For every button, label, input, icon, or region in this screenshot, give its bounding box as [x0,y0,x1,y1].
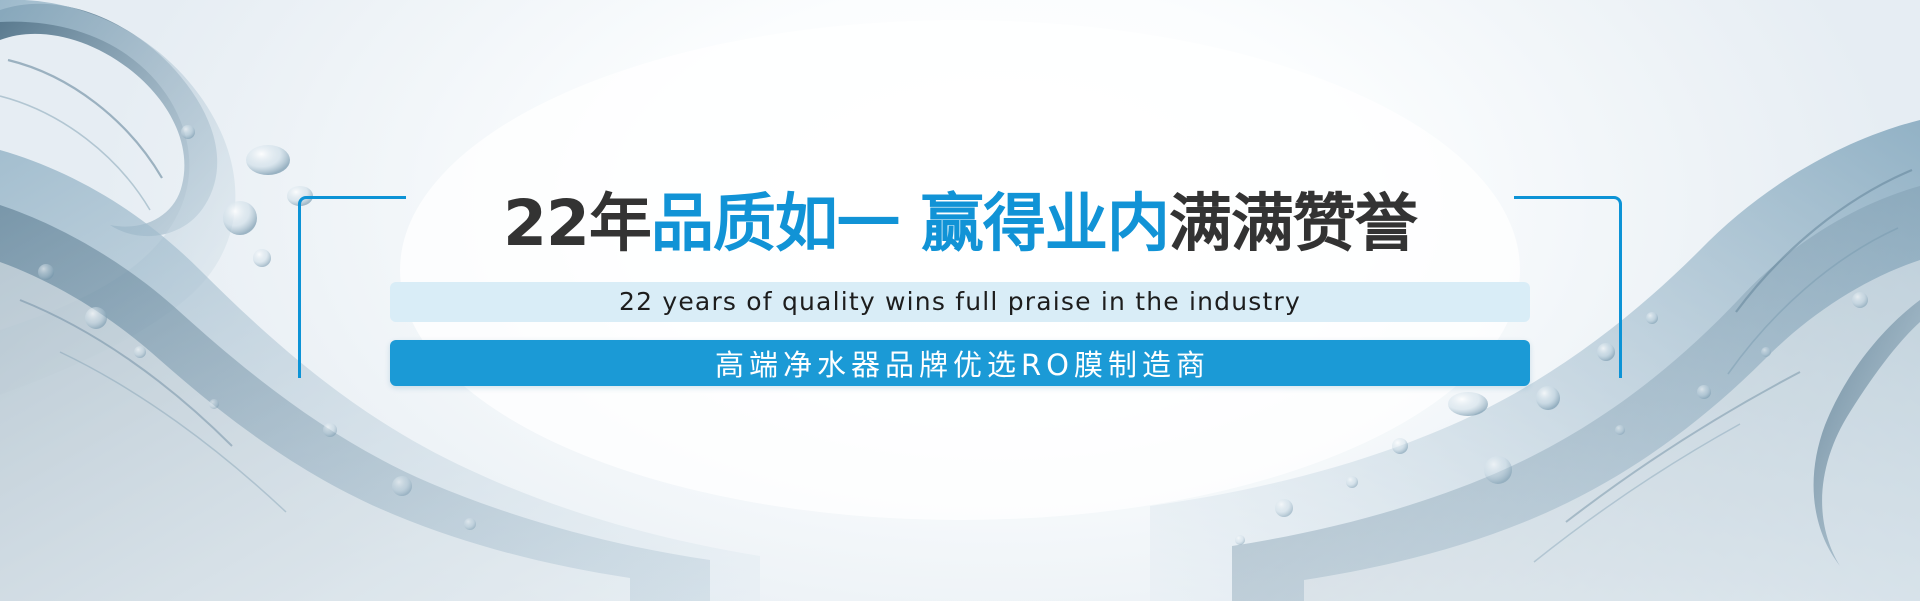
tagline-bar: 高端净水器品牌优选RO膜制造商 [390,340,1530,386]
tagline-text: 高端净水器品牌优选RO膜制造商 [710,342,1210,384]
headline-segment-2: 品质如一 [651,187,899,260]
headline-segment-4: 满满赞誉 [1169,187,1417,260]
hero-banner: 22年品质如一赢得业内满满赞誉 22 years of quality wins… [0,0,1920,601]
headline-segment-3: 赢得业内 [921,187,1169,260]
subtitle-english-bar: 22 years of quality wins full praise in … [390,282,1530,322]
banner-content: 22年品质如一赢得业内满满赞誉 22 years of quality wins… [380,196,1540,406]
headline-segment-1: 22年 [503,187,651,260]
subtitle-english-text: 22 years of quality wins full praise in … [619,287,1301,316]
page-title: 22年品质如一赢得业内满满赞誉 [380,188,1540,260]
